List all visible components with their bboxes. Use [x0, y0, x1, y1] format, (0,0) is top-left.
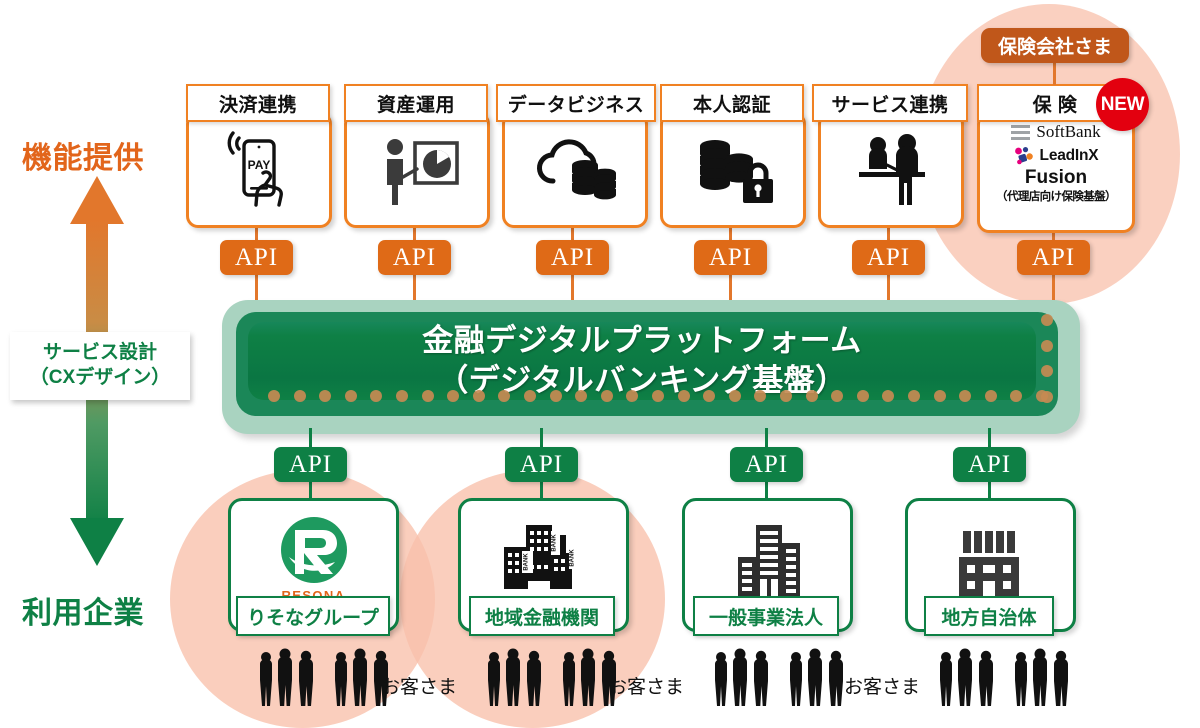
- cx-design-line2: （CXデザイン）: [14, 365, 186, 390]
- connector-dot: [268, 390, 280, 402]
- api-badge-insurance[interactable]: API: [1017, 240, 1090, 275]
- function-card-data-business[interactable]: [502, 112, 648, 228]
- api-badge-authentication[interactable]: API: [694, 240, 767, 275]
- diagram-canvas: 機能提供 利用企業 サービス設計 （CXデザイン） 決済連携 PAY API 資…: [0, 0, 1200, 728]
- connector-dot: [1041, 365, 1053, 377]
- connector-dot: [473, 390, 485, 402]
- client-label-government: 地方自治体: [924, 596, 1054, 636]
- softbank-logo-icon: [1011, 125, 1030, 140]
- connector-dot: [934, 390, 946, 402]
- customer-label: お客さま: [844, 672, 920, 699]
- insurance-owner-badge: 保険会社さま: [981, 28, 1129, 63]
- customer-group-icon: [710, 648, 776, 710]
- new-badge: NEW: [1096, 78, 1149, 131]
- cx-design-label: サービス設計 （CXデザイン）: [10, 332, 190, 400]
- api-badge-asset-management[interactable]: API: [378, 240, 451, 275]
- api-badge-resona[interactable]: API: [274, 447, 347, 482]
- function-card-service-link[interactable]: [818, 112, 964, 228]
- connector-dot: [550, 390, 562, 402]
- connector-dot: [601, 390, 613, 402]
- connector-dot: [985, 390, 997, 402]
- connector-dot: [422, 390, 434, 402]
- api-badge-government[interactable]: API: [953, 447, 1026, 482]
- connector-dot: [1041, 391, 1053, 403]
- connector-dot: [524, 390, 536, 402]
- cloud-database-icon: [529, 129, 621, 211]
- customer-group-icon: [935, 648, 1001, 710]
- connector-dot: [345, 390, 357, 402]
- customer-group-icon: [255, 648, 321, 710]
- connector-dot: [806, 390, 818, 402]
- svg-text:BANK: BANK: [551, 534, 557, 552]
- customer-label: お客さま: [381, 672, 457, 699]
- platform-title-line1: 金融デジタルプラットフォーム: [422, 321, 861, 361]
- resona-logo-group: RESONA: [277, 513, 351, 603]
- customer-group-icon: [1010, 648, 1076, 710]
- softbank-brand: SoftBank: [1011, 120, 1100, 144]
- presentation-chart-icon: [371, 129, 463, 211]
- customer-label: お客さま: [608, 672, 684, 699]
- connector-dot: [678, 390, 690, 402]
- arrow-up-head: [70, 176, 124, 224]
- counter-service-icon: [845, 129, 937, 211]
- client-label-corporate: 一般事業法人: [693, 596, 839, 636]
- function-header-3: 本人認証: [660, 84, 804, 122]
- function-card-payment[interactable]: PAY: [186, 112, 332, 228]
- mobile-pay-icon: PAY: [213, 129, 305, 211]
- connector-dot: [908, 390, 920, 402]
- function-card-asset-management[interactable]: [344, 112, 490, 228]
- svg-text:BANK: BANK: [523, 553, 529, 571]
- api-badge-payment[interactable]: API: [220, 240, 293, 275]
- function-card-insurance[interactable]: SoftBank LeadInX Fusion （代理店向け保険基盤）: [977, 112, 1135, 233]
- connector-dot: [396, 390, 408, 402]
- platform-banner: 金融デジタルプラットフォーム （デジタルバンキング基盤）: [222, 300, 1080, 434]
- function-header-0: 決済連携: [186, 84, 330, 122]
- leadinx-name: LeadInX: [1040, 147, 1099, 165]
- fusion-product-sub: （代理店向け保険基盤）: [996, 188, 1116, 204]
- function-header-2: データビジネス: [496, 84, 656, 122]
- connector-dot: [780, 390, 792, 402]
- softbank-name: SoftBank: [1036, 122, 1100, 142]
- client-label-regional-bank: 地域金融機関: [469, 596, 615, 636]
- connector-dot: [857, 390, 869, 402]
- connector-dot: [1041, 340, 1053, 352]
- api-badge-data-business[interactable]: API: [536, 240, 609, 275]
- resona-logo-icon: [277, 513, 351, 587]
- fusion-product-name: Fusion: [1025, 168, 1087, 188]
- function-card-authentication[interactable]: [660, 112, 806, 228]
- api-badge-service-link[interactable]: API: [852, 240, 925, 275]
- api-badge-corporate[interactable]: API: [730, 447, 803, 482]
- client-label-resona: りそなグループ: [236, 596, 390, 636]
- platform-title: 金融デジタルプラットフォーム （デジタルバンキング基盤）: [248, 322, 1036, 400]
- connector-dot: [1041, 314, 1053, 326]
- api-badge-regional-bank[interactable]: API: [505, 447, 578, 482]
- function-header-1: 資産運用: [344, 84, 488, 122]
- arrow-down-head: [70, 518, 124, 566]
- insurance-stem: [1053, 63, 1056, 85]
- axis-label-bottom: 利用企業: [22, 588, 144, 632]
- connector-dot: [729, 390, 741, 402]
- cx-design-line1: サービス設計: [14, 340, 186, 365]
- customer-group-icon: [483, 648, 549, 710]
- leadinx-logo-icon: [1014, 146, 1035, 166]
- leadinx-brand: LeadInX: [1014, 144, 1099, 168]
- customer-group-icon: [785, 648, 851, 710]
- svg-text:PAY: PAY: [248, 158, 271, 172]
- database-lock-icon: [687, 129, 779, 211]
- function-header-4: サービス連携: [812, 84, 968, 122]
- connector-dot: [294, 390, 306, 402]
- svg-text:BANK: BANK: [569, 549, 575, 567]
- connector-dot: [652, 390, 664, 402]
